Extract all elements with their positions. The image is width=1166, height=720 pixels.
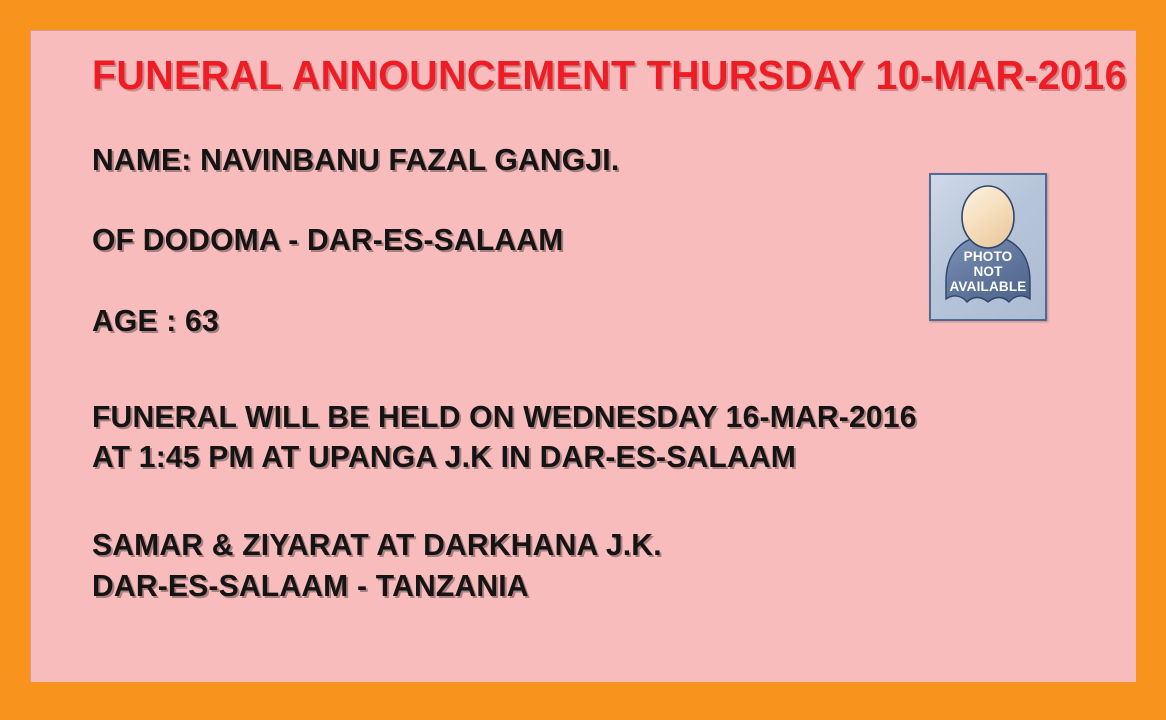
funeral-announcement-poster: FUNERAL ANNOUNCEMENT THURSDAY 10-MAR-201… [0,0,1166,720]
announcement-card: FUNERAL ANNOUNCEMENT THURSDAY 10-MAR-201… [30,30,1136,682]
samar-ziyarat-line-2: DAR-ES-SALAAM - TANZANIA [92,566,1076,606]
funeral-details-block: FUNERAL WILL BE HELD ON WEDNESDAY 16-MAR… [92,397,1076,478]
photo-not-available-placeholder: PHOTO NOT AVAILABLE [929,173,1047,321]
silhouette-head [962,186,1014,248]
samar-ziyarat-block: SAMAR & ZIYARAT AT DARKHANA J.K. DAR-ES-… [92,525,1076,606]
page-title: FUNERAL ANNOUNCEMENT THURSDAY 10-MAR-201… [92,54,1056,97]
samar-ziyarat-line-1: SAMAR & ZIYARAT AT DARKHANA J.K. [92,525,1076,565]
funeral-details-line-1: FUNERAL WILL BE HELD ON WEDNESDAY 16-MAR… [92,397,1076,437]
person-silhouette-icon [931,175,1045,319]
funeral-details-line-2: AT 1:45 PM AT UPANGA J.K IN DAR-ES-SALAA… [92,437,1076,477]
